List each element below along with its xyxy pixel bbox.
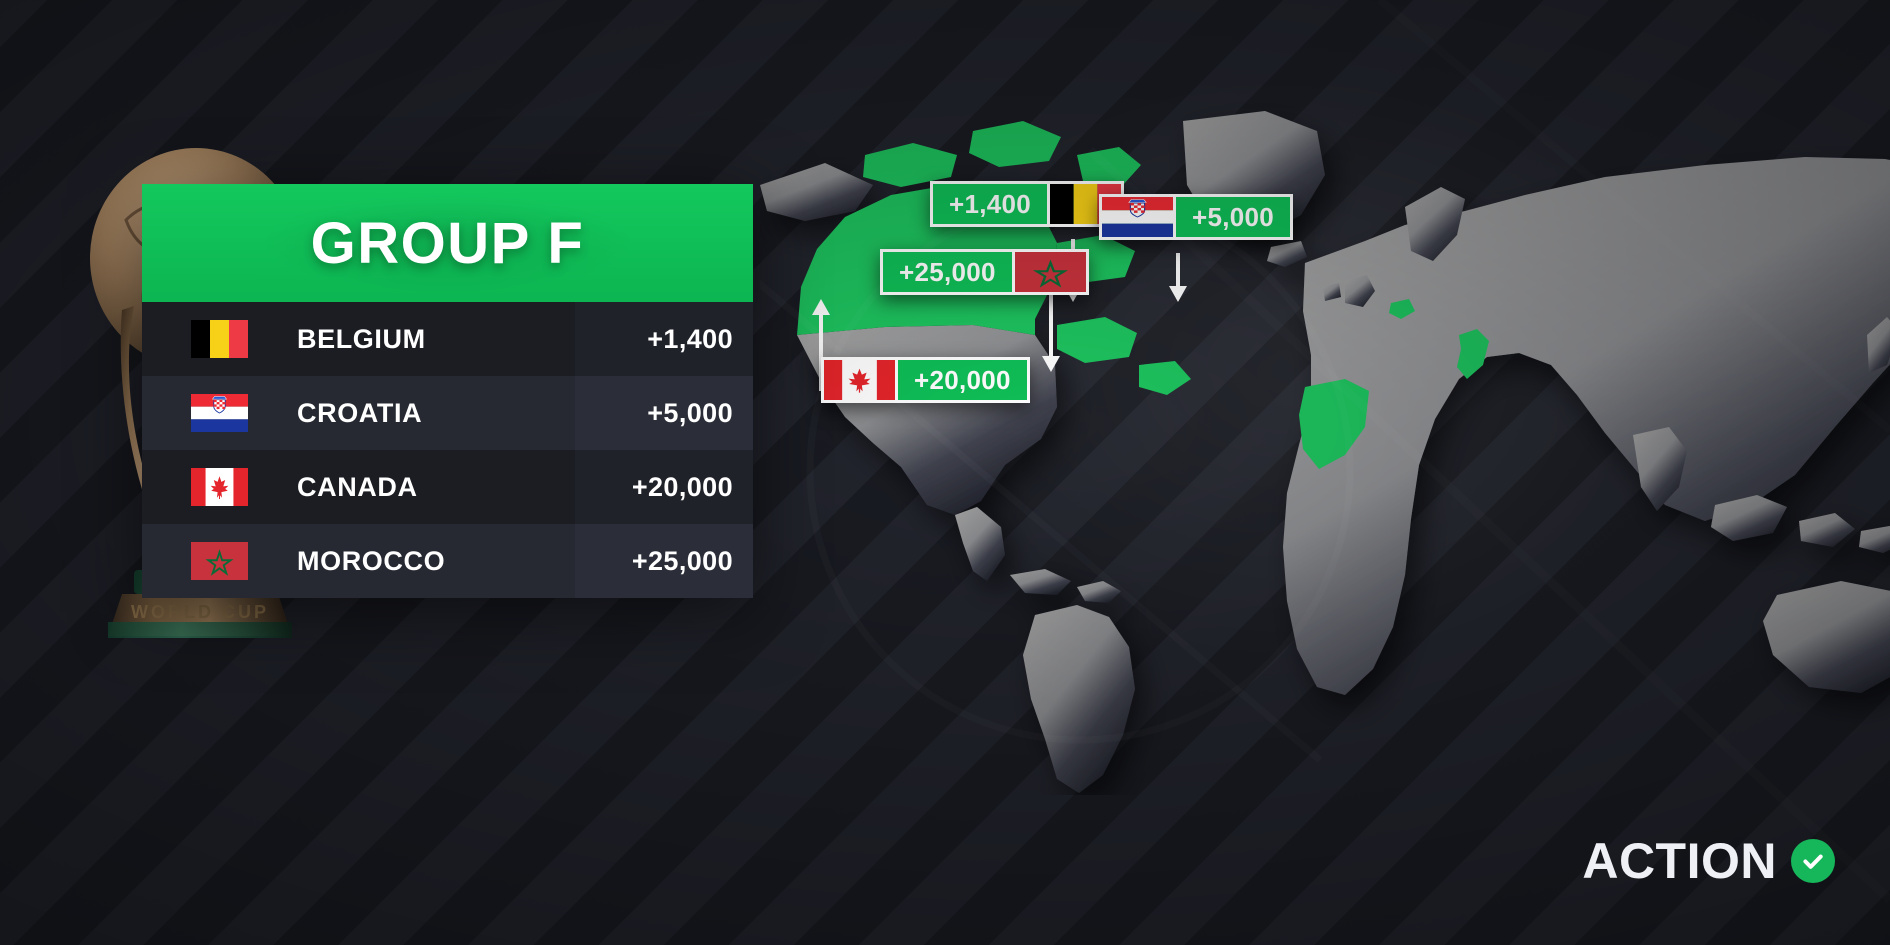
row-team-cell: CANADA — [297, 450, 575, 524]
team-name: CANADA — [297, 472, 418, 503]
row-flag-cell — [142, 302, 297, 376]
team-odds: +20,000 — [632, 472, 733, 503]
row-team-cell: MOROCCO — [297, 524, 575, 598]
flag-canada-icon — [191, 468, 248, 506]
check-circle-icon — [1791, 839, 1835, 883]
row-flag-cell — [142, 450, 297, 524]
table-row[interactable]: CANADA +20,000 — [142, 450, 753, 524]
group-odds-panel: GROUP F BELGIUM +1,400 — [142, 184, 753, 598]
graphic-stage: +1,400 — [0, 0, 1890, 945]
table-row[interactable]: BELGIUM +1,400 — [142, 302, 753, 376]
team-odds: +25,000 — [632, 546, 733, 577]
action-network-logo[interactable]: ACTION — [1582, 832, 1835, 890]
team-name: CROATIA — [297, 398, 422, 429]
trophy-malachite-ring-lower — [108, 622, 292, 638]
row-odds-cell: +1,400 — [575, 302, 753, 376]
table-row[interactable]: CROATIA +5,000 — [142, 376, 753, 450]
row-flag-cell — [142, 524, 297, 598]
flag-belgium-icon — [191, 320, 248, 358]
logo-wordmark: ACTION — [1582, 832, 1777, 890]
table-row[interactable]: MOROCCO +25,000 — [142, 524, 753, 598]
row-odds-cell: +5,000 — [575, 376, 753, 450]
page-title: GROUP F — [311, 210, 585, 277]
trophy-engraving-line2: WORLD CUP — [131, 602, 269, 622]
flag-morocco-icon — [191, 542, 248, 580]
team-name: BELGIUM — [297, 324, 426, 355]
row-team-cell: BELGIUM — [297, 302, 575, 376]
row-flag-cell — [142, 376, 297, 450]
row-team-cell: CROATIA — [297, 376, 575, 450]
team-name: MOROCCO — [297, 546, 445, 577]
panel-header: GROUP F — [142, 184, 753, 302]
team-odds: +1,400 — [647, 324, 733, 355]
row-odds-cell: +20,000 — [575, 450, 753, 524]
row-odds-cell: +25,000 — [575, 524, 753, 598]
flag-croatia-icon — [191, 394, 248, 432]
team-odds: +5,000 — [647, 398, 733, 429]
